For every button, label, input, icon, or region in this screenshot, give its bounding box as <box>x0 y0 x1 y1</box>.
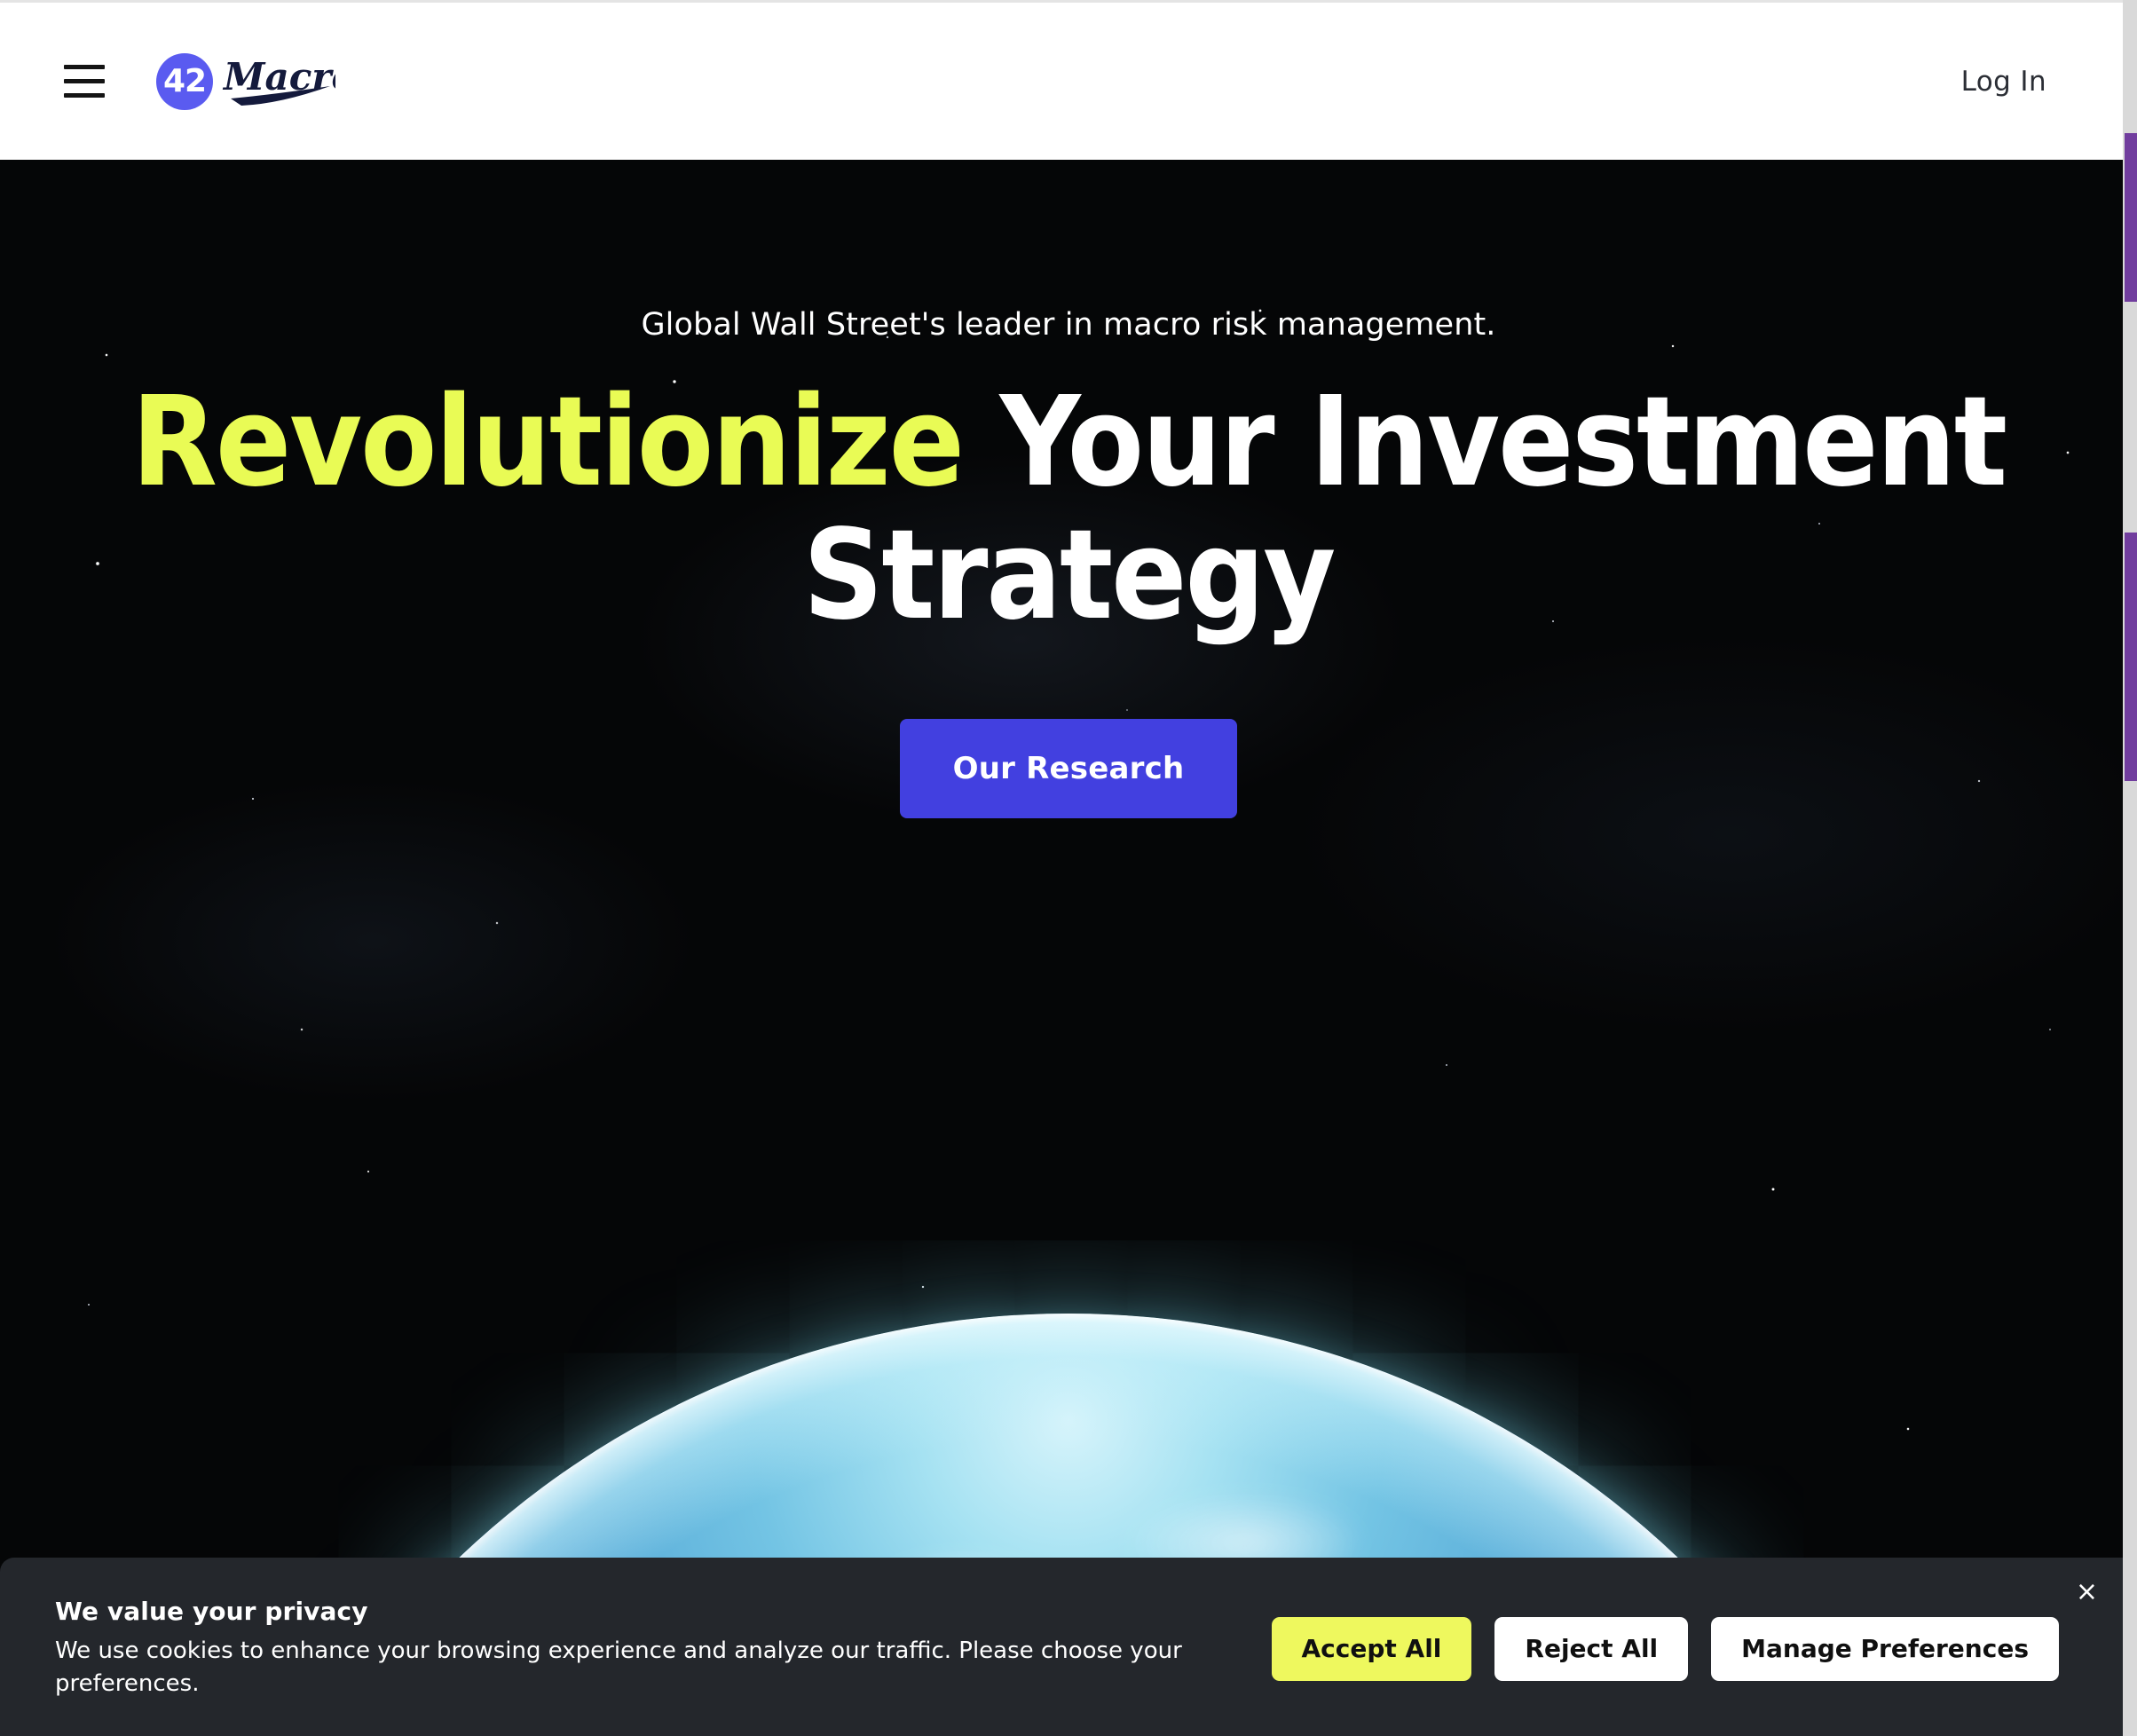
hero-tagline: Global Wall Street's leader in macro ris… <box>0 160 2137 343</box>
scrollbar-thumb[interactable] <box>2125 133 2137 302</box>
hero-headline-accent: Revolutionize <box>131 370 963 515</box>
cookie-banner-title: We value your privacy <box>55 1597 1209 1626</box>
page-root: 42 Macro Log In Global Wall Street's lea… <box>0 0 2137 1736</box>
svg-text:Macro: Macro <box>222 55 335 99</box>
logo-wordmark-macro: Macro <box>222 51 335 113</box>
scrollbar-thumb-secondary[interactable] <box>2125 533 2137 781</box>
hero-headline-rest: Your Investment Strategy <box>803 370 2006 648</box>
cookie-action-buttons: Accept All Reject All Manage Preferences <box>1272 1617 2060 1681</box>
site-header: 42 Macro Log In <box>0 3 2137 160</box>
cookie-text-block: We value your privacy We use cookies to … <box>55 1597 1209 1700</box>
hamburger-menu-icon[interactable] <box>64 53 121 110</box>
hamburger-bar-2 <box>64 79 105 83</box>
login-link[interactable]: Log In <box>1961 66 2046 98</box>
brand-logo[interactable]: 42 Macro <box>156 51 335 113</box>
accept-all-button[interactable]: Accept All <box>1272 1617 1472 1681</box>
our-research-button[interactable]: Our Research <box>900 719 1238 818</box>
hamburger-bar-1 <box>64 65 105 69</box>
reject-all-button[interactable]: Reject All <box>1494 1617 1688 1681</box>
cookie-consent-banner: We value your privacy We use cookies to … <box>0 1558 2137 1736</box>
manage-preferences-button[interactable]: Manage Preferences <box>1711 1617 2059 1681</box>
hero-headline: Revolutionize Your Investment Strategy <box>0 343 2137 643</box>
hero-section: Global Wall Street's leader in macro ris… <box>0 160 2137 1736</box>
close-icon[interactable]: × <box>2070 1574 2103 1611</box>
logo-badge-42: 42 <box>156 53 213 110</box>
cookie-banner-body: We use cookies to enhance your browsing … <box>55 1635 1209 1700</box>
hamburger-bar-3 <box>64 93 105 98</box>
hero-cta-row: Our Research <box>0 719 2137 818</box>
hero-copy: Global Wall Street's leader in macro ris… <box>0 160 2137 818</box>
